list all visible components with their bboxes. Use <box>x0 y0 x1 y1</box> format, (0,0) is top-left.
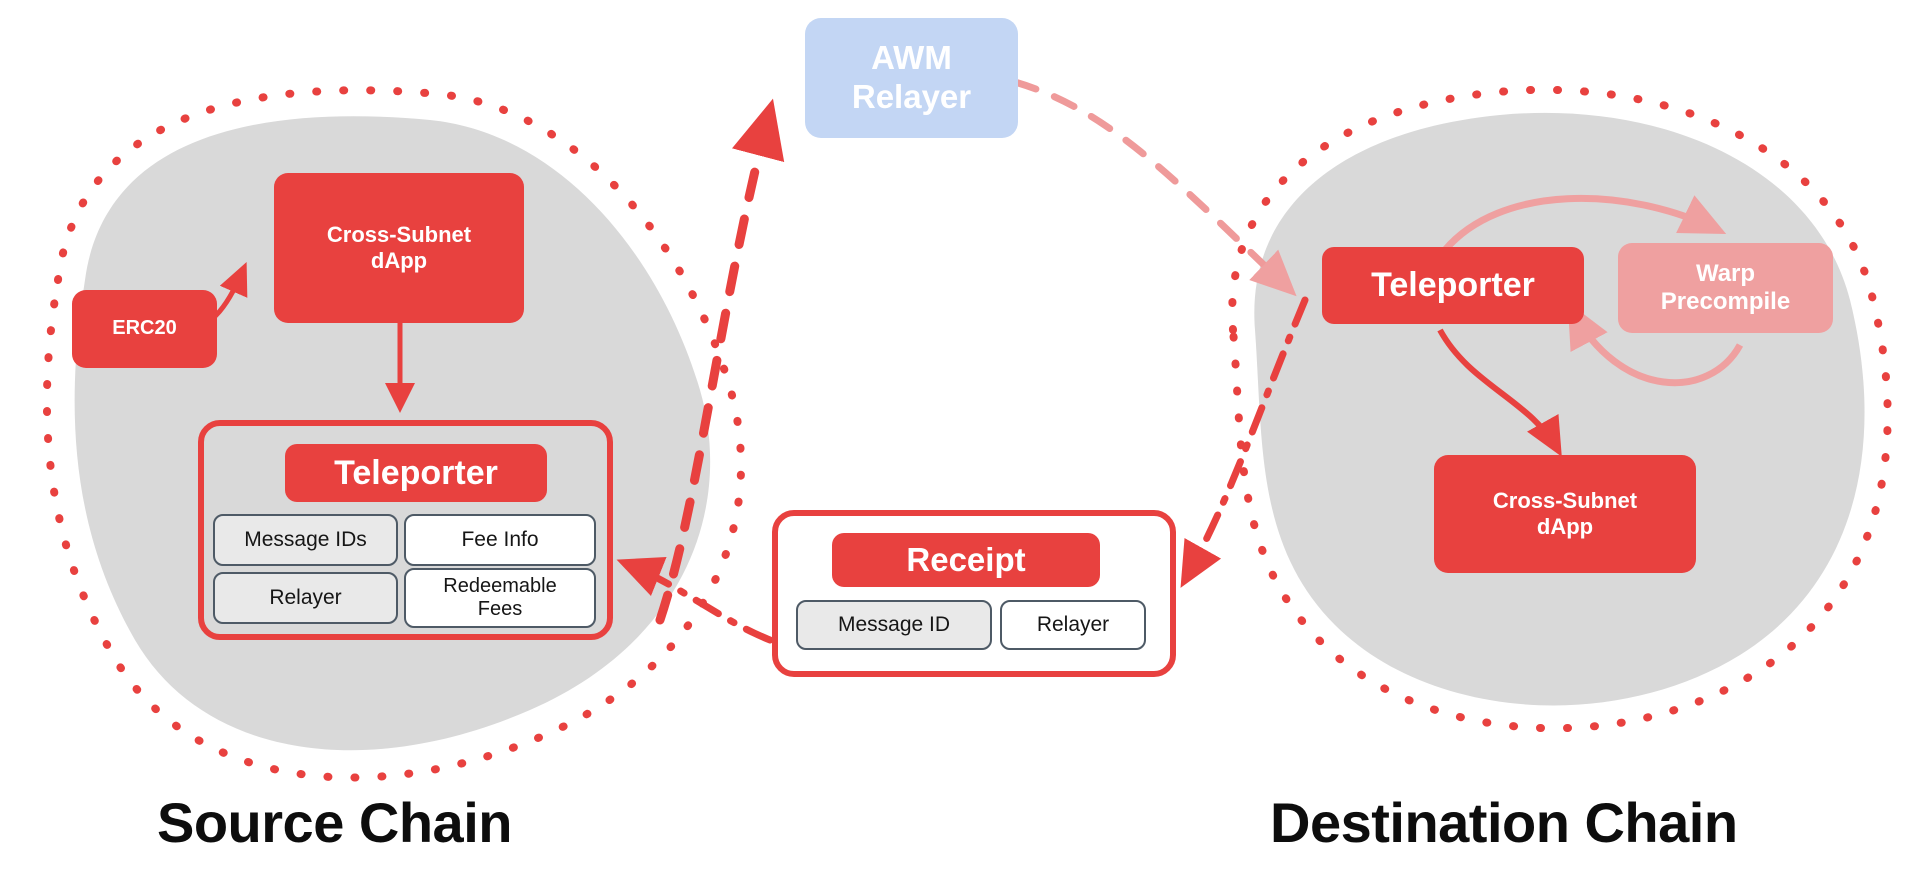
destination-chain-label: Destination Chain <box>1270 790 1738 855</box>
receipt-field-message-id-label: Message ID <box>838 613 950 637</box>
node-destination-teleporter[interactable]: Teleporter <box>1322 247 1584 324</box>
node-destination-cross-subnet-dapp-line1: Cross-Subnet <box>1493 488 1637 514</box>
diagram-canvas: ERC20 Cross-Subnet dApp Teleporter Messa… <box>0 0 1920 892</box>
source-field-redeemable-fees-line2: Fees <box>478 598 522 621</box>
node-source-teleporter[interactable]: Teleporter <box>285 444 547 502</box>
node-warp-precompile[interactable]: Warp Precompile <box>1618 243 1833 333</box>
source-field-redeemable-fees-line1: Redeemable <box>443 575 556 598</box>
node-awm-relayer[interactable]: AWM Relayer <box>805 18 1018 138</box>
node-source-cross-subnet-dapp-line1: Cross-Subnet <box>327 222 471 248</box>
node-awm-relayer-line2: Relayer <box>852 78 971 117</box>
arrow-awm-relayer-to-destination <box>1015 82 1290 290</box>
source-field-relayer[interactable]: Relayer <box>213 572 398 624</box>
node-warp-precompile-line2: Precompile <box>1661 288 1790 316</box>
source-field-fee-info[interactable]: Fee Info <box>404 514 596 566</box>
node-destination-cross-subnet-dapp[interactable]: Cross-Subnet dApp <box>1434 455 1696 573</box>
node-source-teleporter-label: Teleporter <box>334 453 498 493</box>
receipt-field-message-id[interactable]: Message ID <box>796 600 992 650</box>
receipt-field-relayer-label: Relayer <box>1037 613 1109 637</box>
node-destination-cross-subnet-dapp-line2: dApp <box>1537 514 1593 540</box>
source-field-message-ids[interactable]: Message IDs <box>213 514 398 566</box>
node-erc20-label: ERC20 <box>112 317 176 341</box>
node-source-cross-subnet-dapp[interactable]: Cross-Subnet dApp <box>274 173 524 323</box>
node-erc20[interactable]: ERC20 <box>72 290 217 368</box>
source-field-relayer-label: Relayer <box>269 586 341 610</box>
receipt-field-relayer[interactable]: Relayer <box>1000 600 1146 650</box>
node-receipt-title-label: Receipt <box>906 541 1025 580</box>
node-receipt-title[interactable]: Receipt <box>832 533 1100 587</box>
source-chain-label: Source Chain <box>157 790 512 855</box>
node-source-cross-subnet-dapp-line2: dApp <box>371 248 427 274</box>
source-field-fee-info-label: Fee Info <box>461 528 538 552</box>
node-destination-teleporter-label: Teleporter <box>1371 265 1535 305</box>
source-field-redeemable-fees[interactable]: Redeemable Fees <box>404 568 596 628</box>
node-awm-relayer-line1: AWM <box>871 39 952 78</box>
source-field-message-ids-label: Message IDs <box>244 528 367 552</box>
node-warp-precompile-line1: Warp <box>1696 260 1755 288</box>
